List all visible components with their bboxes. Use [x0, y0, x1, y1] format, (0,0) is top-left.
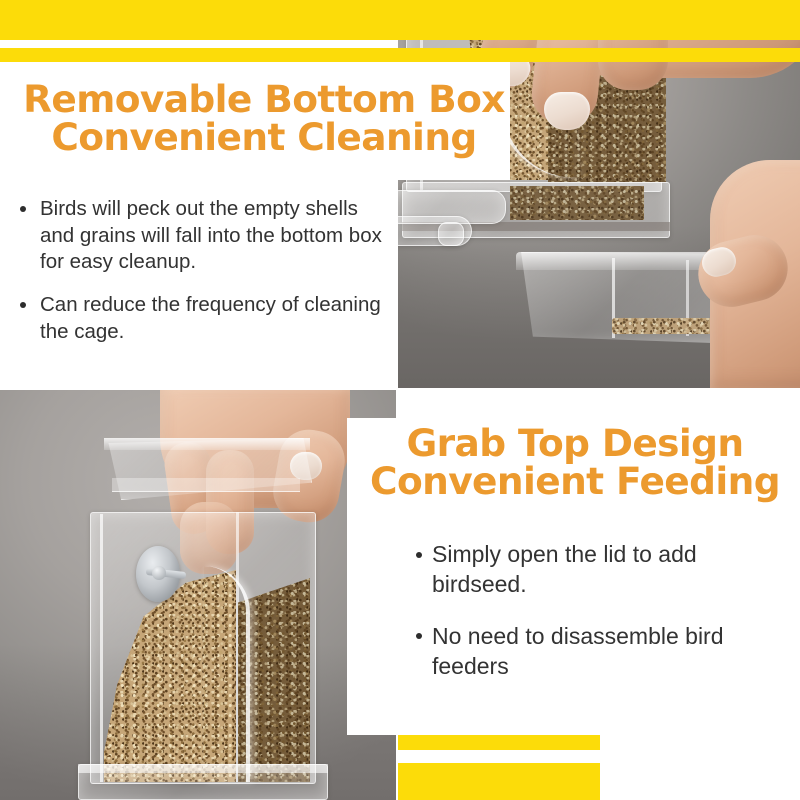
bottom-right-headline: Grab Top Design Convenient Feeding — [352, 424, 798, 501]
top-thin-yellow-band — [0, 48, 800, 62]
list-item: Birds will peck out the empty shells and… — [14, 196, 386, 276]
feeder-mount-hook — [438, 222, 464, 246]
upper-hand-nail-2 — [544, 92, 590, 130]
list-item: Simply open the lid to add birdseed. — [413, 540, 793, 600]
top-thick-yellow-band — [0, 0, 800, 40]
bullet-text: No need to disassemble bird feeders — [432, 623, 724, 679]
bottom-right-bullet-list: Simply open the lid to add birdseed. No … — [413, 540, 793, 704]
bottom-thin-yellow-band — [398, 735, 600, 750]
bullet-dot-icon — [416, 633, 422, 639]
bullet-text: Can reduce the frequency of cleaning the… — [40, 293, 381, 343]
list-item: No need to disassemble bird feeders — [413, 622, 793, 682]
feeder-bottom-tray-rim — [78, 764, 328, 773]
grab-top-lid-edge — [104, 438, 310, 450]
grab-top-lid-flange — [112, 478, 300, 492]
bullet-text: Birds will peck out the empty shells and… — [40, 197, 382, 273]
bottom-left-product-photo — [0, 390, 396, 800]
bottom-thick-yellow-band — [398, 763, 600, 800]
top-left-bullet-list: Birds will peck out the empty shells and… — [14, 196, 386, 361]
mounting-screw-head — [152, 566, 166, 580]
bullet-dot-icon — [20, 206, 26, 212]
bullet-text: Simply open the lid to add birdseed. — [432, 541, 697, 597]
birdseed-in-base — [510, 186, 644, 220]
feeder-front-wall-line — [100, 514, 103, 782]
top-left-headline: Removable Bottom Box Convenient Cleaning — [18, 80, 510, 157]
feeder-curved-baffle — [204, 566, 250, 782]
list-item: Can reduce the frequency of cleaning the… — [14, 292, 386, 345]
bullet-dot-icon — [20, 302, 26, 308]
infographic-canvas: Removable Bottom Box Convenient Cleaning… — [0, 0, 800, 800]
bullet-dot-icon — [416, 552, 422, 558]
